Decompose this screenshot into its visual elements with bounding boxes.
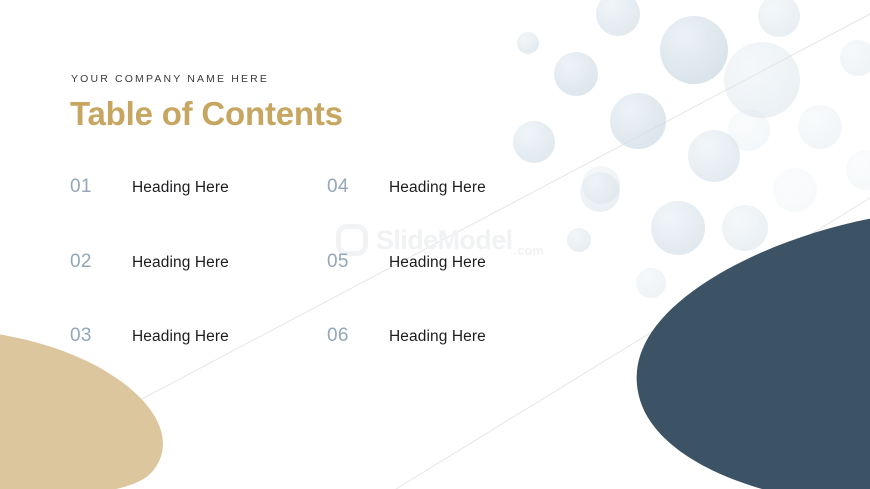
toc-label: Heading Here (132, 179, 229, 197)
toc-item-02[interactable]: 02 Heading Here (70, 251, 327, 273)
toc-number: 04 (327, 176, 389, 198)
bokeh-circle (840, 40, 870, 76)
slide-canvas: SlideModel .com YOUR COMPANY NAME HERE T… (0, 0, 870, 489)
toc-number: 02 (70, 251, 132, 273)
toc-number: 03 (70, 325, 132, 347)
toc-number: 01 (70, 176, 132, 198)
bokeh-circle (773, 168, 817, 212)
toc-item-06[interactable]: 06 Heading Here (327, 325, 584, 347)
toc-label: Heading Here (389, 328, 486, 346)
toc-item-01[interactable]: 01 Heading Here (70, 176, 327, 198)
toc-label: Heading Here (389, 254, 486, 272)
toc-row: 03 Heading Here 06 Heading Here (70, 325, 590, 347)
toc-item-04[interactable]: 04 Heading Here (327, 176, 584, 198)
table-of-contents-grid: 01 Heading Here 04 Heading Here 02 Headi… (70, 176, 590, 347)
toc-row: 01 Heading Here 04 Heading Here (70, 176, 590, 198)
page-title: Table of Contents (70, 96, 343, 132)
bokeh-circle (728, 109, 770, 151)
bokeh-circle (660, 16, 728, 84)
bokeh-circle (636, 268, 666, 298)
bokeh-circle (724, 42, 800, 118)
bokeh-circle (722, 205, 768, 251)
dark-slate-blob-bottom-right (637, 210, 870, 489)
toc-item-03[interactable]: 03 Heading Here (70, 325, 327, 347)
toc-item-05[interactable]: 05 Heading Here (327, 251, 584, 273)
bokeh-circle (688, 130, 740, 182)
toc-label: Heading Here (132, 254, 229, 272)
slide-content: YOUR COMPANY NAME HERE Table of Contents… (0, 0, 620, 489)
company-name-eyebrow: YOUR COMPANY NAME HERE (71, 73, 269, 85)
toc-label: Heading Here (389, 179, 486, 197)
toc-label: Heading Here (132, 328, 229, 346)
bokeh-circle (758, 0, 800, 37)
toc-number: 05 (327, 251, 389, 273)
bokeh-circle (651, 201, 705, 255)
bokeh-circle (798, 105, 842, 149)
bokeh-circle (846, 150, 870, 190)
toc-row: 02 Heading Here 05 Heading Here (70, 251, 590, 273)
toc-number: 06 (327, 325, 389, 347)
